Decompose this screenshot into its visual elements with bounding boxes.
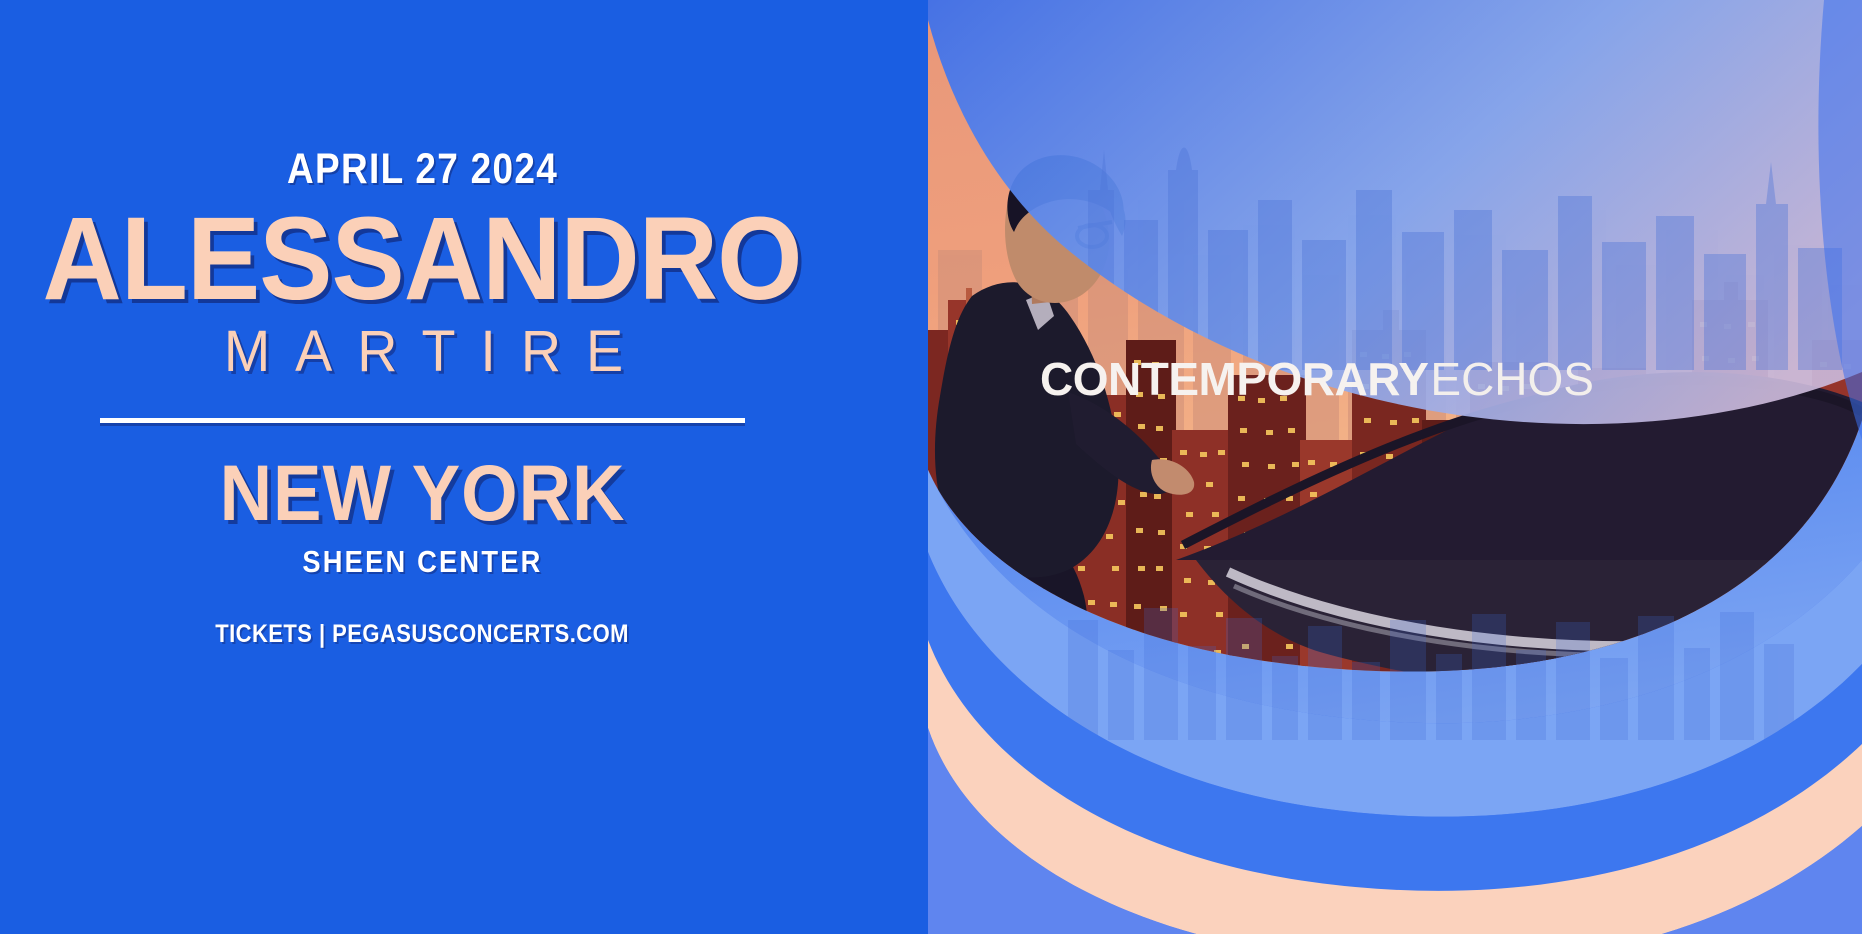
divider-rule xyxy=(100,418,745,423)
tickets-link[interactable]: TICKETS | PEGASUSCONCERTS.COM xyxy=(216,620,630,649)
event-venue: SHEEN CENTER xyxy=(302,544,542,580)
artwork-illustration: CONTEMPORARY ECHOS xyxy=(928,0,1862,934)
event-city: NEW YORK xyxy=(220,453,626,532)
info-panel: APRIL 27 2024 ALESSANDRO MARTIRE NEW YOR… xyxy=(0,0,928,934)
info-panel-content: APRIL 27 2024 ALESSANDRO MARTIRE NEW YOR… xyxy=(0,0,845,934)
artwork-panel: CONTEMPORARY ECHOS xyxy=(928,0,1862,934)
artist-first-name: ALESSANDRO xyxy=(43,200,802,318)
banner-title-light: ECHOS xyxy=(1430,353,1594,405)
banner-title-bold: CONTEMPORARY xyxy=(1040,353,1428,405)
banner-text-group: CONTEMPORARY ECHOS xyxy=(1040,353,1594,405)
concert-poster: CONTEMPORARY ECHOS APRIL 27 2024 ALESSAN… xyxy=(0,0,1862,934)
artist-last-name: MARTIRE xyxy=(223,320,647,384)
event-date: APRIL 27 2024 xyxy=(287,145,558,194)
